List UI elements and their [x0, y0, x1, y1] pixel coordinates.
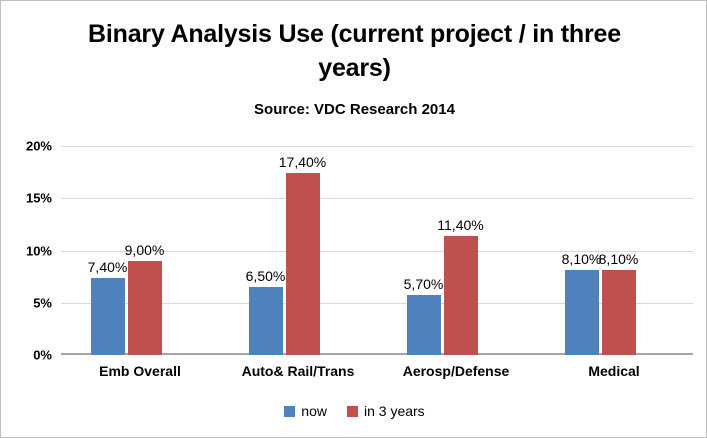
- bar-now-emb-overall[interactable]: [91, 278, 125, 355]
- y-axis-tick-label: 10%: [0, 243, 52, 258]
- y-axis-tick-label: 15%: [0, 191, 52, 206]
- bar-group: 5,70%11,40%: [407, 146, 478, 355]
- chart-legend: nowin 3 years: [1, 403, 707, 419]
- plot-area: 7,40%9,00%6,50%17,40%5,70%11,40%8,10%8,1…: [61, 146, 693, 355]
- bar-in-3-years-auto-rail-trans[interactable]: [286, 173, 320, 355]
- legend-label: now: [301, 403, 327, 419]
- category-label-medical: Medical: [588, 363, 639, 379]
- bar-now-auto-rail-trans[interactable]: [249, 287, 283, 355]
- legend-item-in-3-years[interactable]: in 3 years: [347, 403, 425, 419]
- bar-value-label: 17,40%: [279, 154, 326, 170]
- bar-value-label: 6,50%: [246, 268, 286, 284]
- category-label-emb-overall: Emb Overall: [99, 363, 181, 379]
- title-block: Binary Analysis Use (current project / i…: [61, 17, 648, 85]
- bar-now-medical[interactable]: [565, 270, 599, 355]
- category-axis: Emb OverallAuto& Rail/TransAerosp/Defens…: [61, 363, 693, 385]
- bar-value-label: 5,70%: [404, 276, 444, 292]
- bar-value-label: 9,00%: [125, 242, 165, 258]
- chart-subtitle: Source: VDC Research 2014: [61, 101, 648, 118]
- bar-group: 6,50%17,40%: [249, 146, 320, 355]
- y-axis-tick-label: 20%: [0, 139, 52, 154]
- legend-item-now[interactable]: now: [284, 403, 327, 419]
- bar-value-label: 8,10%: [562, 251, 602, 267]
- legend-label: in 3 years: [364, 403, 425, 419]
- bar-value-label: 7,40%: [88, 259, 128, 275]
- chart-container: Binary Analysis Use (current project / i…: [0, 0, 707, 438]
- bar-in-3-years-medical[interactable]: [602, 270, 636, 355]
- y-axis: 0%5%10%15%20%: [1, 146, 61, 355]
- category-label-auto-rail-trans: Auto& Rail/Trans: [242, 363, 355, 379]
- bar-group: 8,10%8,10%: [565, 146, 636, 355]
- category-label-aerosp-defense: Aerosp/Defense: [403, 363, 510, 379]
- y-axis-tick-label: 5%: [0, 295, 52, 310]
- y-axis-tick-label: 0%: [0, 348, 52, 363]
- legend-swatch-icon: [284, 406, 295, 417]
- bar-value-label: 8,10%: [599, 251, 639, 267]
- bar-in-3-years-aerosp-defense[interactable]: [444, 236, 478, 355]
- page-title: Binary Analysis Use (current project / i…: [61, 17, 648, 85]
- bar-value-label: 11,40%: [437, 217, 483, 233]
- bar-in-3-years-emb-overall[interactable]: [128, 261, 162, 355]
- bar-group: 7,40%9,00%: [91, 146, 162, 355]
- bar-now-aerosp-defense[interactable]: [407, 295, 441, 355]
- legend-swatch-icon: [347, 406, 358, 417]
